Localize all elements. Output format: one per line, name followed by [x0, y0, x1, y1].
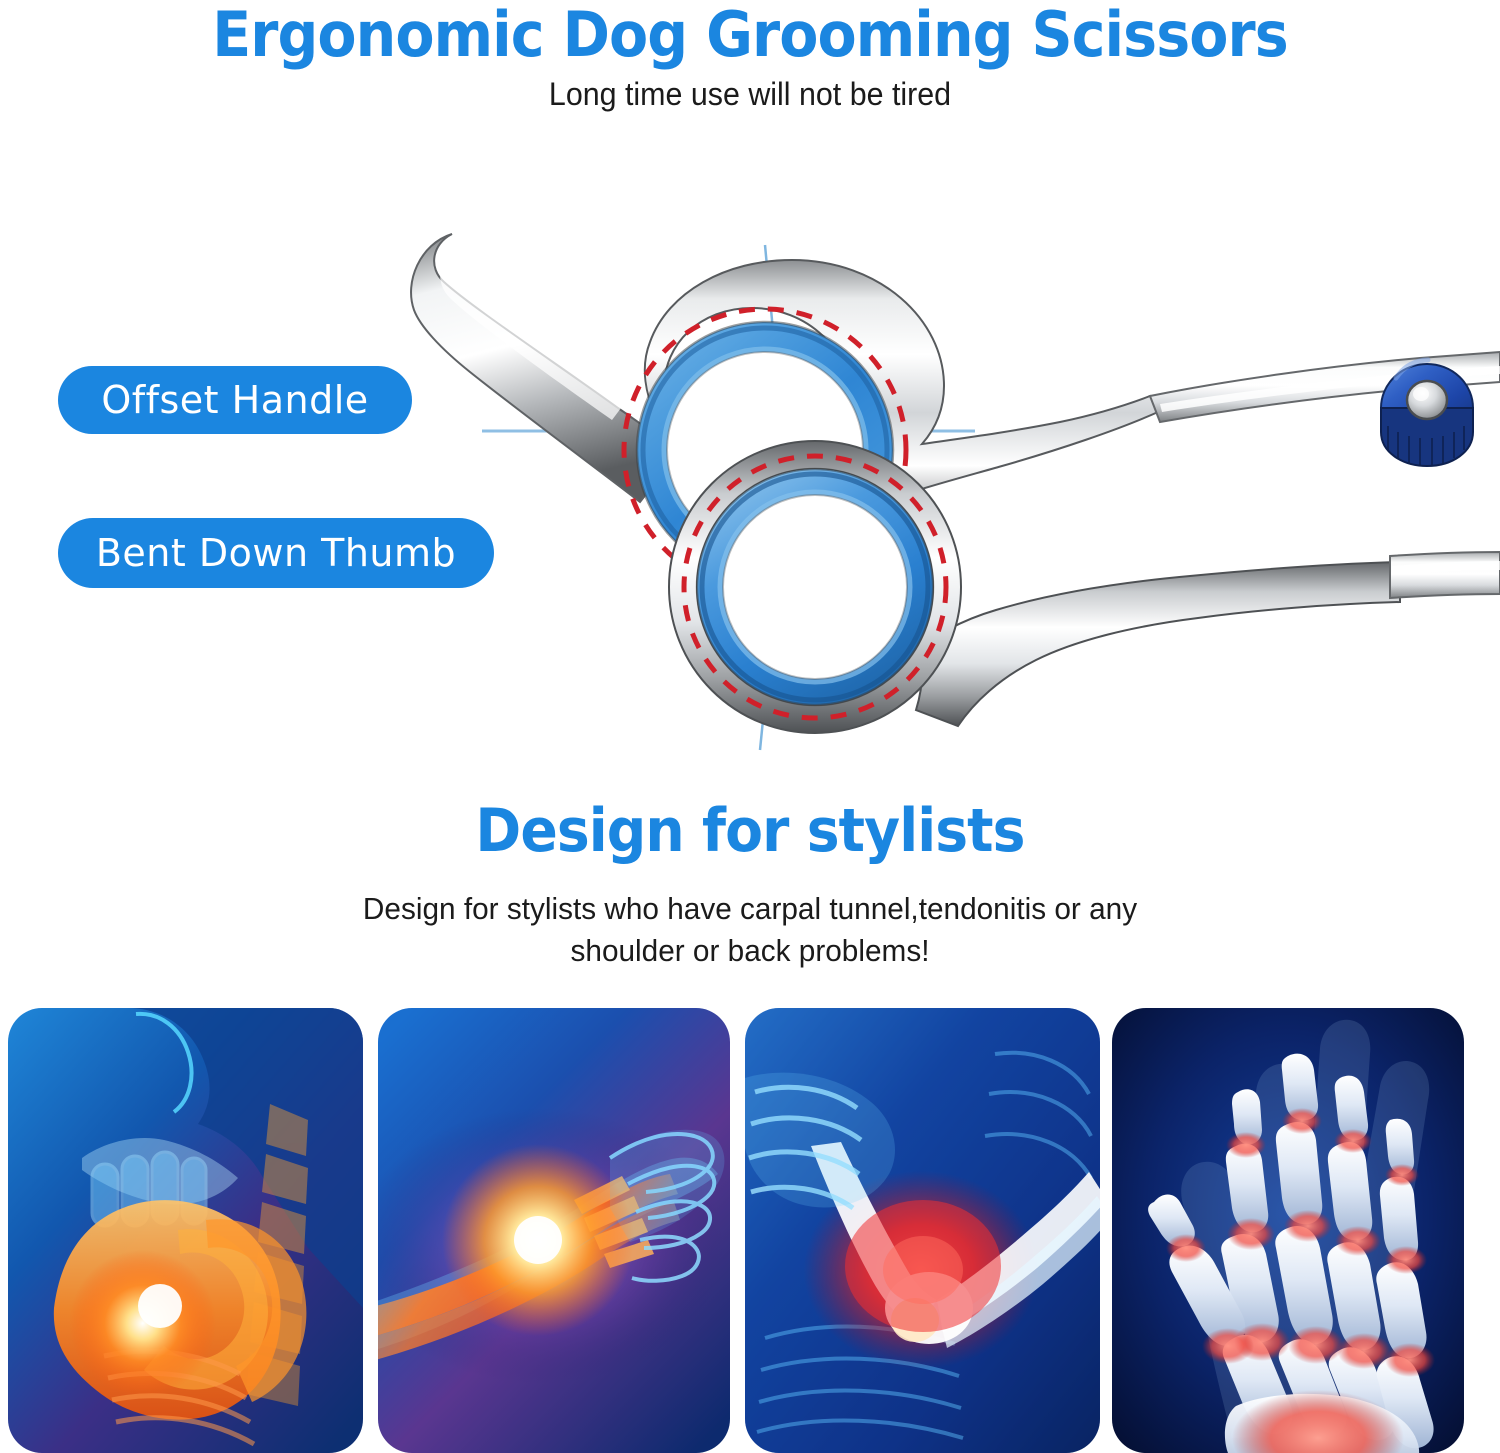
lower-handle	[669, 441, 1400, 733]
panel-wrist-carpal-tunnel-pain	[378, 1008, 730, 1453]
page-title: Ergonomic Dog Grooming Scissors	[60, 4, 1440, 66]
panel-elbow-pain	[745, 1008, 1100, 1453]
section-subtitle-line2: shoulder or back problems!	[30, 930, 1470, 972]
scissors-illustration	[0, 150, 1500, 770]
tension-knob	[1381, 360, 1473, 466]
panel-shoulder-pain	[8, 1008, 363, 1453]
badge-bent-down-thumb: Bent Down Thumb	[58, 518, 494, 588]
section-subtitle-line1: Design for stylists who have carpal tunn…	[30, 888, 1470, 930]
section-title-design-for-stylists: Design for stylists	[60, 800, 1440, 862]
product-infographic: Ergonomic Dog Grooming Scissors Long tim…	[0, 0, 1500, 1453]
page-subtitle: Long time use will not be tired	[38, 76, 1463, 112]
pain-panel-strip	[0, 1008, 1500, 1453]
section-subtitle: Design for stylists who have carpal tunn…	[30, 888, 1470, 972]
badge-offset-handle: Offset Handle	[58, 366, 412, 434]
panel-hand-arthritis-xray	[1112, 1008, 1464, 1453]
